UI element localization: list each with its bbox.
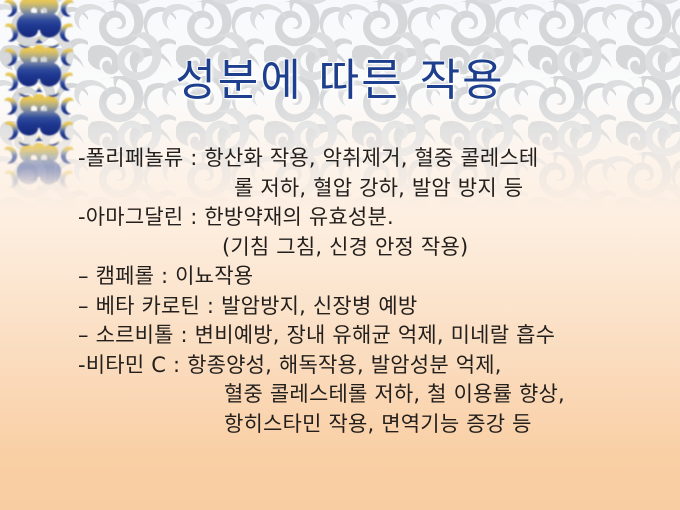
- body-line: – 캠페롤 : 이뇨작용: [0, 262, 680, 292]
- body-line: 항히스타민 작용, 면역기능 증강 등: [0, 410, 680, 440]
- slide-body: -폴리페놀류 : 항산화 작용, 악취제거, 혈중 콜레스테 롤 저하, 혈압 …: [0, 144, 680, 439]
- body-line: -폴리페놀류 : 항산화 작용, 악취제거, 혈중 콜레스테: [0, 144, 680, 174]
- body-line: -아마그달린 : 한방약재의 유효성분.: [0, 203, 680, 233]
- body-line: 혈중 콜레스테롤 저하, 철 이용률 향상,: [0, 380, 680, 410]
- body-line: (기침 그침, 신경 안정 작용): [0, 233, 680, 263]
- body-line: – 소르비톨 : 변비예방, 장내 유해균 억제, 미네랄 흡수: [0, 321, 680, 351]
- slide-title: 성분에 따른 작용: [0, 44, 680, 108]
- body-line: -비타민 C : 항종양성, 해독작용, 발암성분 억제,: [0, 351, 680, 381]
- presentation-slide: 성분에 따른 작용 -폴리페놀류 : 항산화 작용, 악취제거, 혈중 콜레스테…: [0, 0, 680, 510]
- body-line: – 베타 카로틴 : 발암방지, 신장병 예방: [0, 292, 680, 322]
- body-line: 롤 저하, 혈압 강하, 발암 방지 등: [0, 174, 680, 204]
